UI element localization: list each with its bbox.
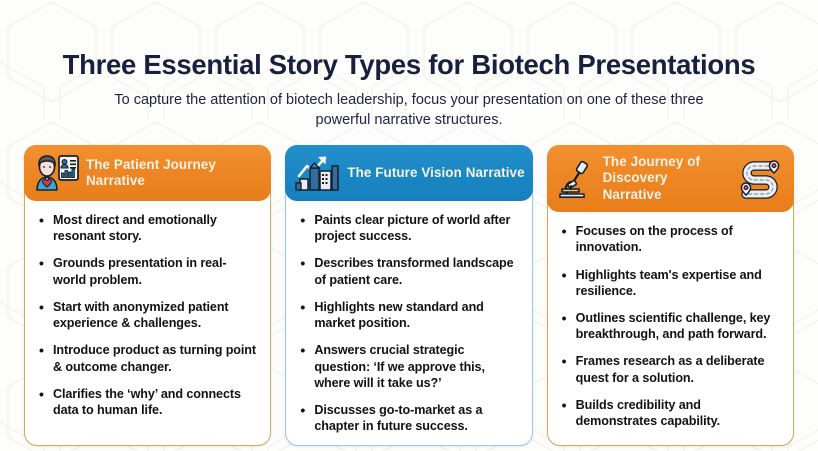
card-title: The Patient Journey Narrative (86, 157, 263, 190)
card-header: The Future Vision Narrative (285, 145, 532, 201)
page-title: Three Essential Story Types for Biotech … (0, 50, 818, 80)
slide-header: Three Essential Story Types for Biotech … (0, 0, 818, 130)
list-item: Most direct and emotionally resonant sto… (39, 212, 258, 244)
card-future-vision[interactable]: The Future Vision Narrative Paints clear… (285, 145, 532, 446)
list-item: Highlights team's expertise and resilien… (562, 267, 781, 299)
list-item: Clarifies the ‘why’ and connects data to… (39, 386, 258, 418)
card-title: The Future Vision Narrative (347, 165, 524, 181)
card-header: The Patient Journey Narrative (24, 145, 271, 201)
card-bullet-list: Most direct and emotionally resonant sto… (25, 200, 270, 428)
patient-chart-icon (33, 154, 79, 192)
infographic-slide: Three Essential Story Types for Biotech … (0, 0, 818, 451)
winding-road-pins-icon (736, 159, 786, 199)
card-patient-journey[interactable]: The Patient Journey Narrative Most direc… (24, 145, 271, 446)
story-type-cards: The Patient Journey Narrative Most direc… (0, 145, 818, 446)
card-title: The Journey of Discovery Narrative (603, 154, 729, 203)
list-item: Grounds presentation in real-world probl… (39, 255, 258, 287)
list-item: Paints clear picture of world after proj… (300, 212, 519, 244)
microscope-icon (556, 160, 596, 198)
list-item: Describes transformed landscape of patie… (300, 255, 519, 287)
list-item: Introduce product as turning point & out… (39, 342, 258, 374)
list-item: Outlines scientific challenge, key break… (562, 310, 781, 342)
list-item: Answers crucial strategic question: ‘If … (300, 342, 519, 391)
list-item: Focuses on the process of innovation. (562, 223, 781, 255)
list-item: Builds credibility and demonstrates capa… (562, 397, 781, 429)
card-bullet-list: Focuses on the process of innovation. Hi… (548, 211, 793, 439)
card-header: The Journey of Discovery Narrative (547, 145, 794, 212)
page-subtitle: To capture the attention of biotech lead… (89, 91, 729, 130)
list-item: Highlights new standard and market posit… (300, 299, 519, 331)
list-item: Discusses go-to-market as a chapter in f… (300, 402, 519, 434)
card-bullet-list: Paints clear picture of world after proj… (286, 200, 531, 445)
growth-chart-city-icon (294, 154, 340, 192)
list-item: Start with anonymized patient experience… (39, 299, 258, 331)
list-item: Frames research as a deliberate quest fo… (562, 353, 781, 385)
card-journey-of-discovery[interactable]: The Journey of Discovery Narrative (547, 145, 794, 446)
